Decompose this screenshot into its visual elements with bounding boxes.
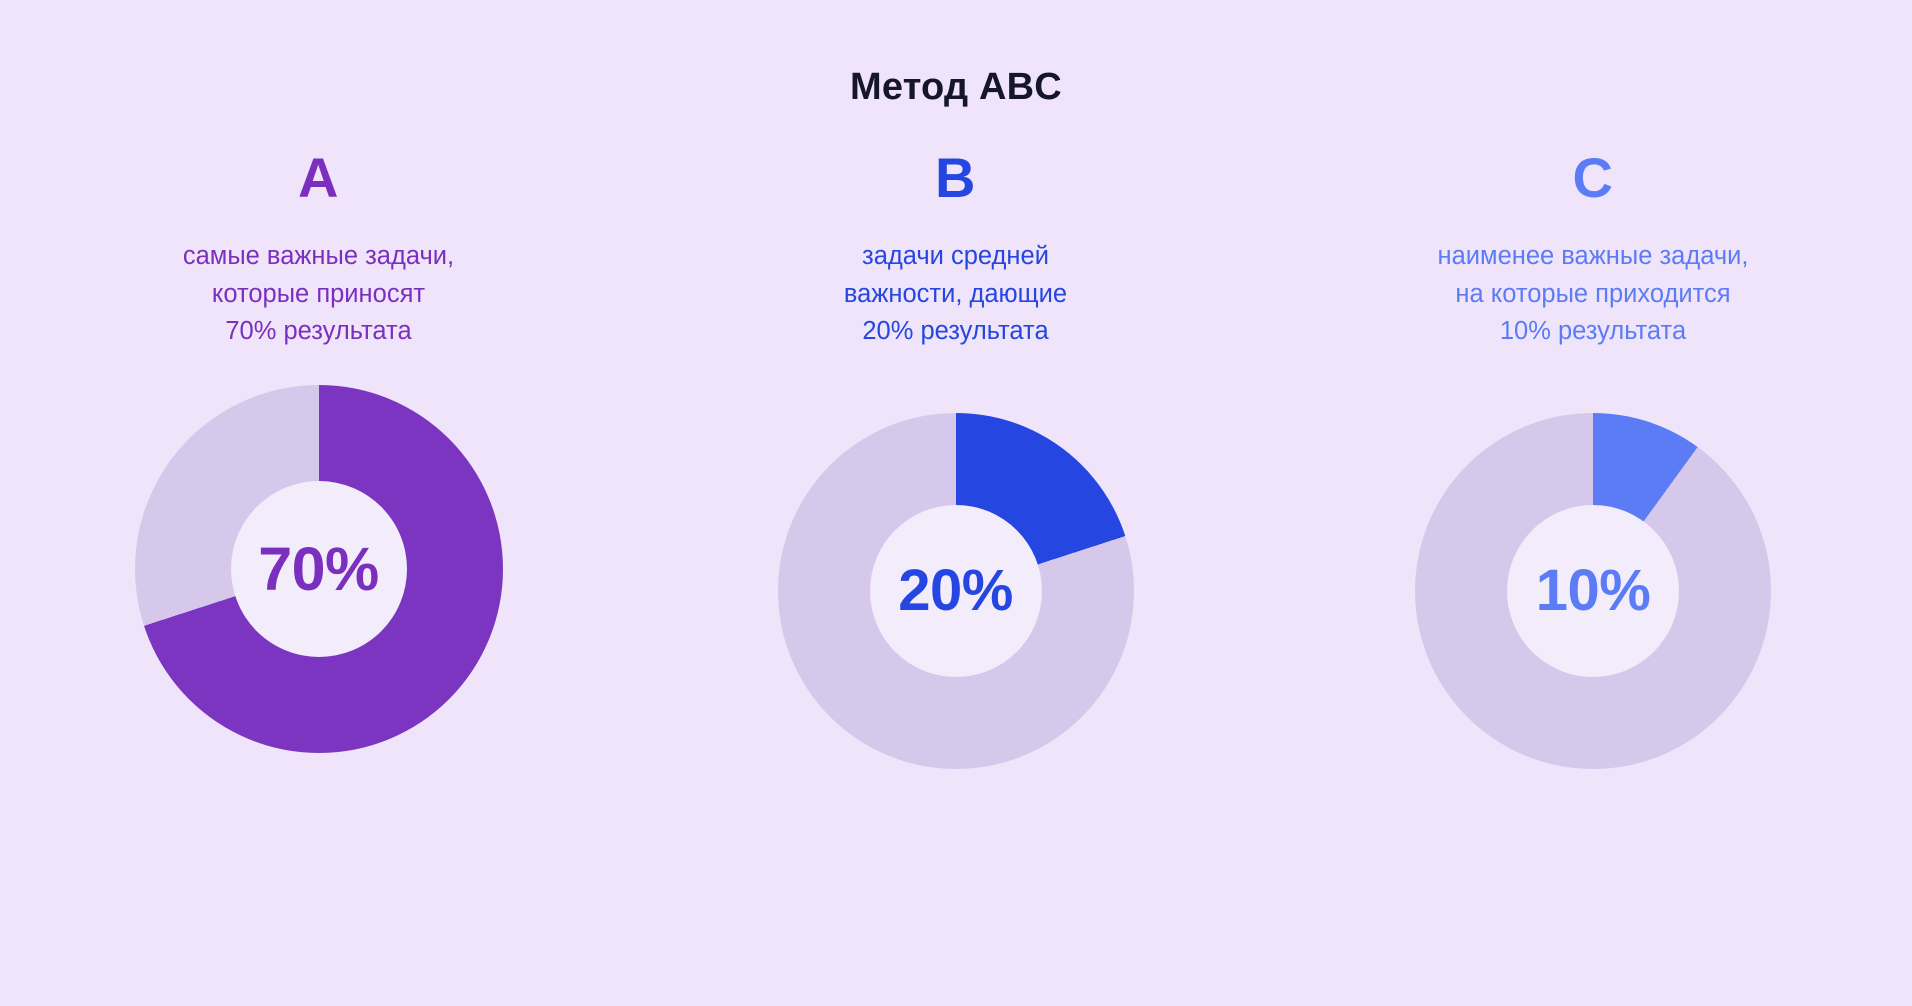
column-c-description: наименее важные задачи, на которые прихо… (1438, 238, 1749, 351)
infographic-canvas: Метод ABC A самые важные задачи, которые… (0, 0, 1912, 1006)
donut-b-wrapper: 20% (778, 413, 1134, 769)
donut-a-value: 70% (258, 539, 379, 600)
donut-b-value: 20% (898, 562, 1013, 620)
column-b-description: задачи средней важности, дающие 20% резу… (844, 238, 1067, 351)
donut-b-center: 20% (870, 505, 1042, 677)
donut-a-center: 70% (231, 481, 407, 657)
column-a: A самые важные задачи, которые приносят … (0, 140, 637, 753)
column-c: C наименее важные задачи, на которые при… (1274, 140, 1912, 769)
donut-c-value: 10% (1536, 562, 1651, 620)
abc-columns: A самые важные задачи, которые приносят … (0, 140, 1912, 1000)
column-a-letter: A (298, 150, 339, 206)
column-b-letter: B (935, 150, 976, 206)
donut-c-center: 10% (1507, 505, 1679, 677)
donut-chart-a: 70% (135, 385, 503, 753)
page-title: Метод ABC (0, 66, 1912, 109)
column-a-description: самые важные задачи, которые приносят 70… (183, 238, 454, 351)
donut-c-wrapper: 10% (1415, 413, 1771, 769)
donut-chart-b: 20% (778, 413, 1134, 769)
donut-chart-c: 10% (1415, 413, 1771, 769)
column-b: B задачи средней важности, дающие 20% ре… (637, 140, 1274, 769)
donut-a-wrapper: 70% (135, 385, 503, 753)
column-c-letter: C (1573, 150, 1614, 206)
